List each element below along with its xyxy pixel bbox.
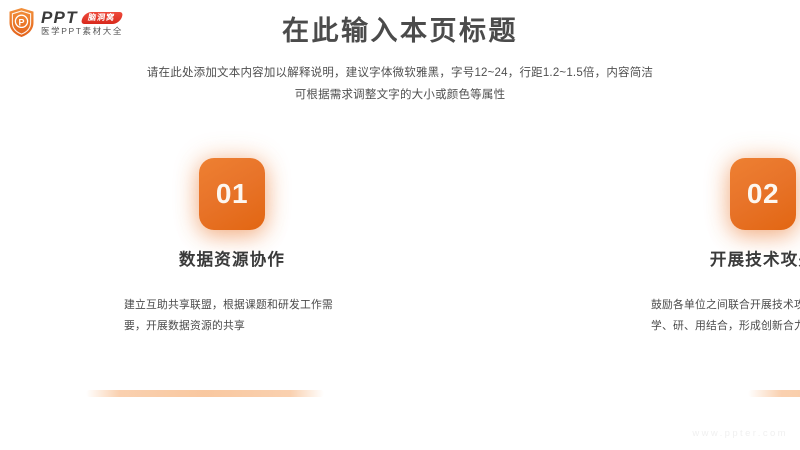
number-badge-label: 02	[747, 180, 779, 208]
subtitle-line-1: 请在此处添加文本内容加以解释说明，建议字体微软雅黑，字号12~24，行距1.2~…	[0, 62, 800, 84]
number-badge-01: 01	[199, 158, 265, 230]
card-underline-02	[748, 390, 800, 397]
number-badge-label: 01	[216, 180, 248, 208]
page-title: 在此输入本页标题	[0, 15, 800, 49]
content-columns: 01 数据资源协作 建立互助共享联盟，根据课题和研发工作需要，开展数据资源的共享…	[0, 158, 800, 338]
card-underline-01	[86, 390, 324, 397]
content-card-01: 01 数据资源协作 建立互助共享联盟，根据课题和研发工作需要，开展数据资源的共享	[0, 158, 400, 338]
card-body-01: 建立互助共享联盟，根据课题和研发工作需要，开展数据资源的共享	[124, 295, 340, 339]
number-badge-02: 02	[730, 158, 796, 230]
card-heading-02: 开展技术攻关	[710, 252, 800, 269]
page-subtitle: 请在此处添加文本内容加以解释说明，建议字体微软雅黑，字号12~24，行距1.2~…	[0, 62, 800, 107]
content-card-02: 02 开展技术攻关 鼓励各单位之间联合开展技术攻关，实现产、学、研、用结合，形成…	[400, 158, 800, 338]
card-body-02: 鼓励各单位之间联合开展技术攻关，实现产、学、研、用结合，形成创新合力	[651, 295, 800, 339]
slide-canvas: P PPT 脑洞窝 医学PPT素材大全 在此输入本页标题 请在此处添加文本内容加…	[0, 0, 800, 450]
card-heading-01: 数据资源协作	[179, 252, 285, 269]
watermark: www.ppter.com	[692, 429, 788, 439]
subtitle-line-2: 可根据需求调整文字的大小或颜色等属性	[0, 84, 800, 106]
